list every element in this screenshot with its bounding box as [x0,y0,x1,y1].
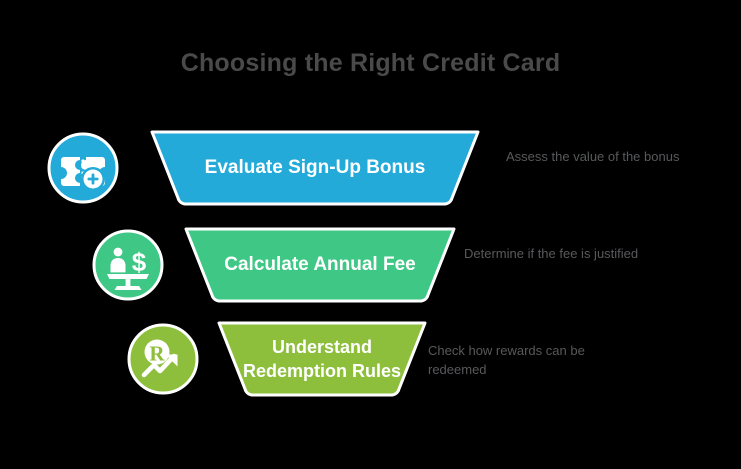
step-description: Determine if the fee is justified [464,244,639,263]
funnel-band-evaluate-sign-up-bonus: Evaluate Sign-Up Bonus [140,128,490,208]
credit-card-funnel-infographic: Choosing the Right Credit Card [0,0,741,469]
rewards-growth-arrow-icon: R [127,323,199,395]
step-description: Check how rewards can be redeemed [428,341,603,379]
ticket-plus-icon [47,132,119,204]
funnel-step-understand-redemption-rules: R Understand Redemption Rules Check how … [0,313,741,409]
funnel-band-label: Understand Redemption Rules [207,319,437,399]
balance-scale-person-dollar-icon: $ [92,229,164,301]
funnel-band-label: Evaluate Sign-Up Bonus [140,128,490,208]
funnel-band-calculate-annual-fee: Calculate Annual Fee [174,225,466,305]
page-title: Choosing the Right Credit Card [0,48,741,78]
funnel-band-label: Calculate Annual Fee [174,225,466,305]
svg-text:$: $ [132,247,147,277]
funnel-step-calculate-annual-fee: $ Calculate Annual Fee Determine if the … [0,219,741,315]
svg-text:R: R [149,342,165,366]
funnel-step-evaluate-sign-up-bonus: Evaluate Sign-Up Bonus Assess the value … [0,122,741,218]
funnel-band-understand-redemption-rules: Understand Redemption Rules [207,319,437,399]
step-description: Assess the value of the bonus [506,147,681,166]
